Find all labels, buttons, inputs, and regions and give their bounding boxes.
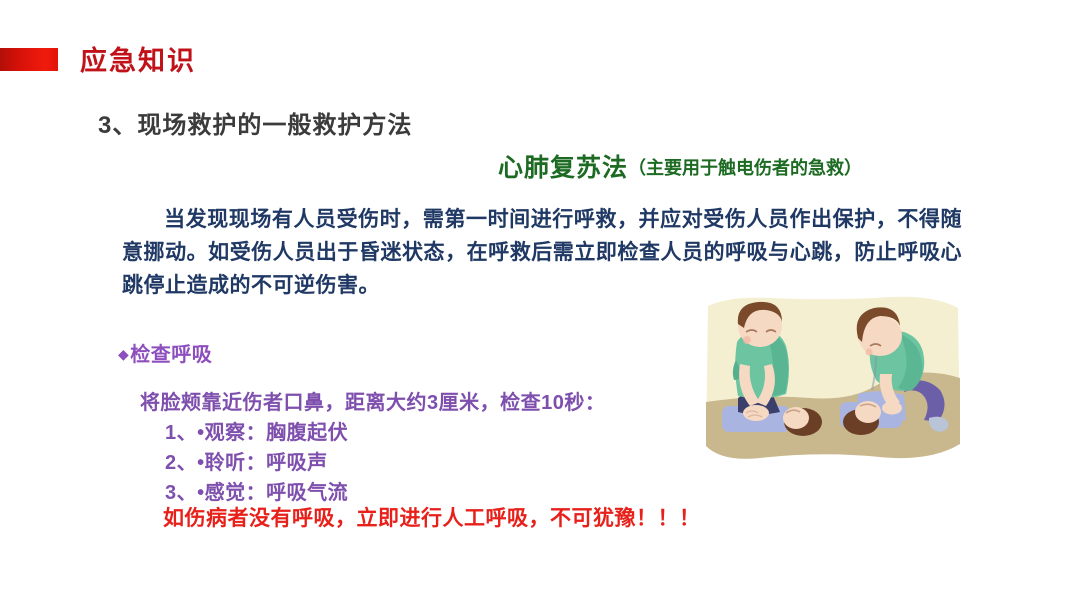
cpr-illustration [700, 294, 965, 474]
check-breathing-label: 检查呼吸 [130, 344, 212, 366]
list-item: 2、•聆听：呼吸声 [140, 448, 605, 478]
list-item: 1、•观察：胸腹起伏 [140, 418, 605, 448]
header-accent-block [0, 48, 58, 71]
check-breathing-heading: ◆检查呼吸 [118, 338, 212, 367]
cpr-heading-main: 心肺复苏法 [498, 154, 628, 182]
rescuer-hand-right [882, 402, 902, 415]
check-breathing-lead: 将脸颊靠近伤者口鼻，距离大约3厘米，检查10秒： [140, 388, 605, 418]
cpr-heading-note: （主要用于触电伤者的急救） [628, 158, 862, 178]
warning-text: 如伤病者没有呼吸，立即进行人工呼吸，不可犹豫！！！ [163, 502, 701, 532]
check-breathing-body: 将脸颊靠近伤者口鼻，距离大约3厘米，检查10秒： 1、•观察：胸腹起伏 2、•聆… [140, 388, 605, 508]
paragraph-text: 当发现现场有人员受伤时，需第一时间进行呼救，并应对受伤人员作出保护，不得随意挪动… [122, 208, 962, 297]
diamond-bullet-icon: ◆ [118, 346, 129, 362]
rescuer-blush-right [865, 348, 872, 355]
intro-paragraph: 当发现现场有人员受伤时，需第一时间进行呼救，并应对受伤人员作出保护，不得随意挪动… [122, 203, 962, 302]
page-title: 应急知识 [80, 44, 196, 78]
slide-canvas: 应急知识 3、现场救护的一般救护方法 心肺复苏法（主要用于触电伤者的急救） 当发… [0, 0, 1080, 608]
section-heading: 3、现场救护的一般救护方法 [98, 105, 412, 140]
cpr-heading: 心肺复苏法（主要用于触电伤者的急救） [498, 148, 862, 184]
rescuer-blush-left [743, 336, 751, 344]
cpr-illustration-svg [700, 294, 965, 474]
